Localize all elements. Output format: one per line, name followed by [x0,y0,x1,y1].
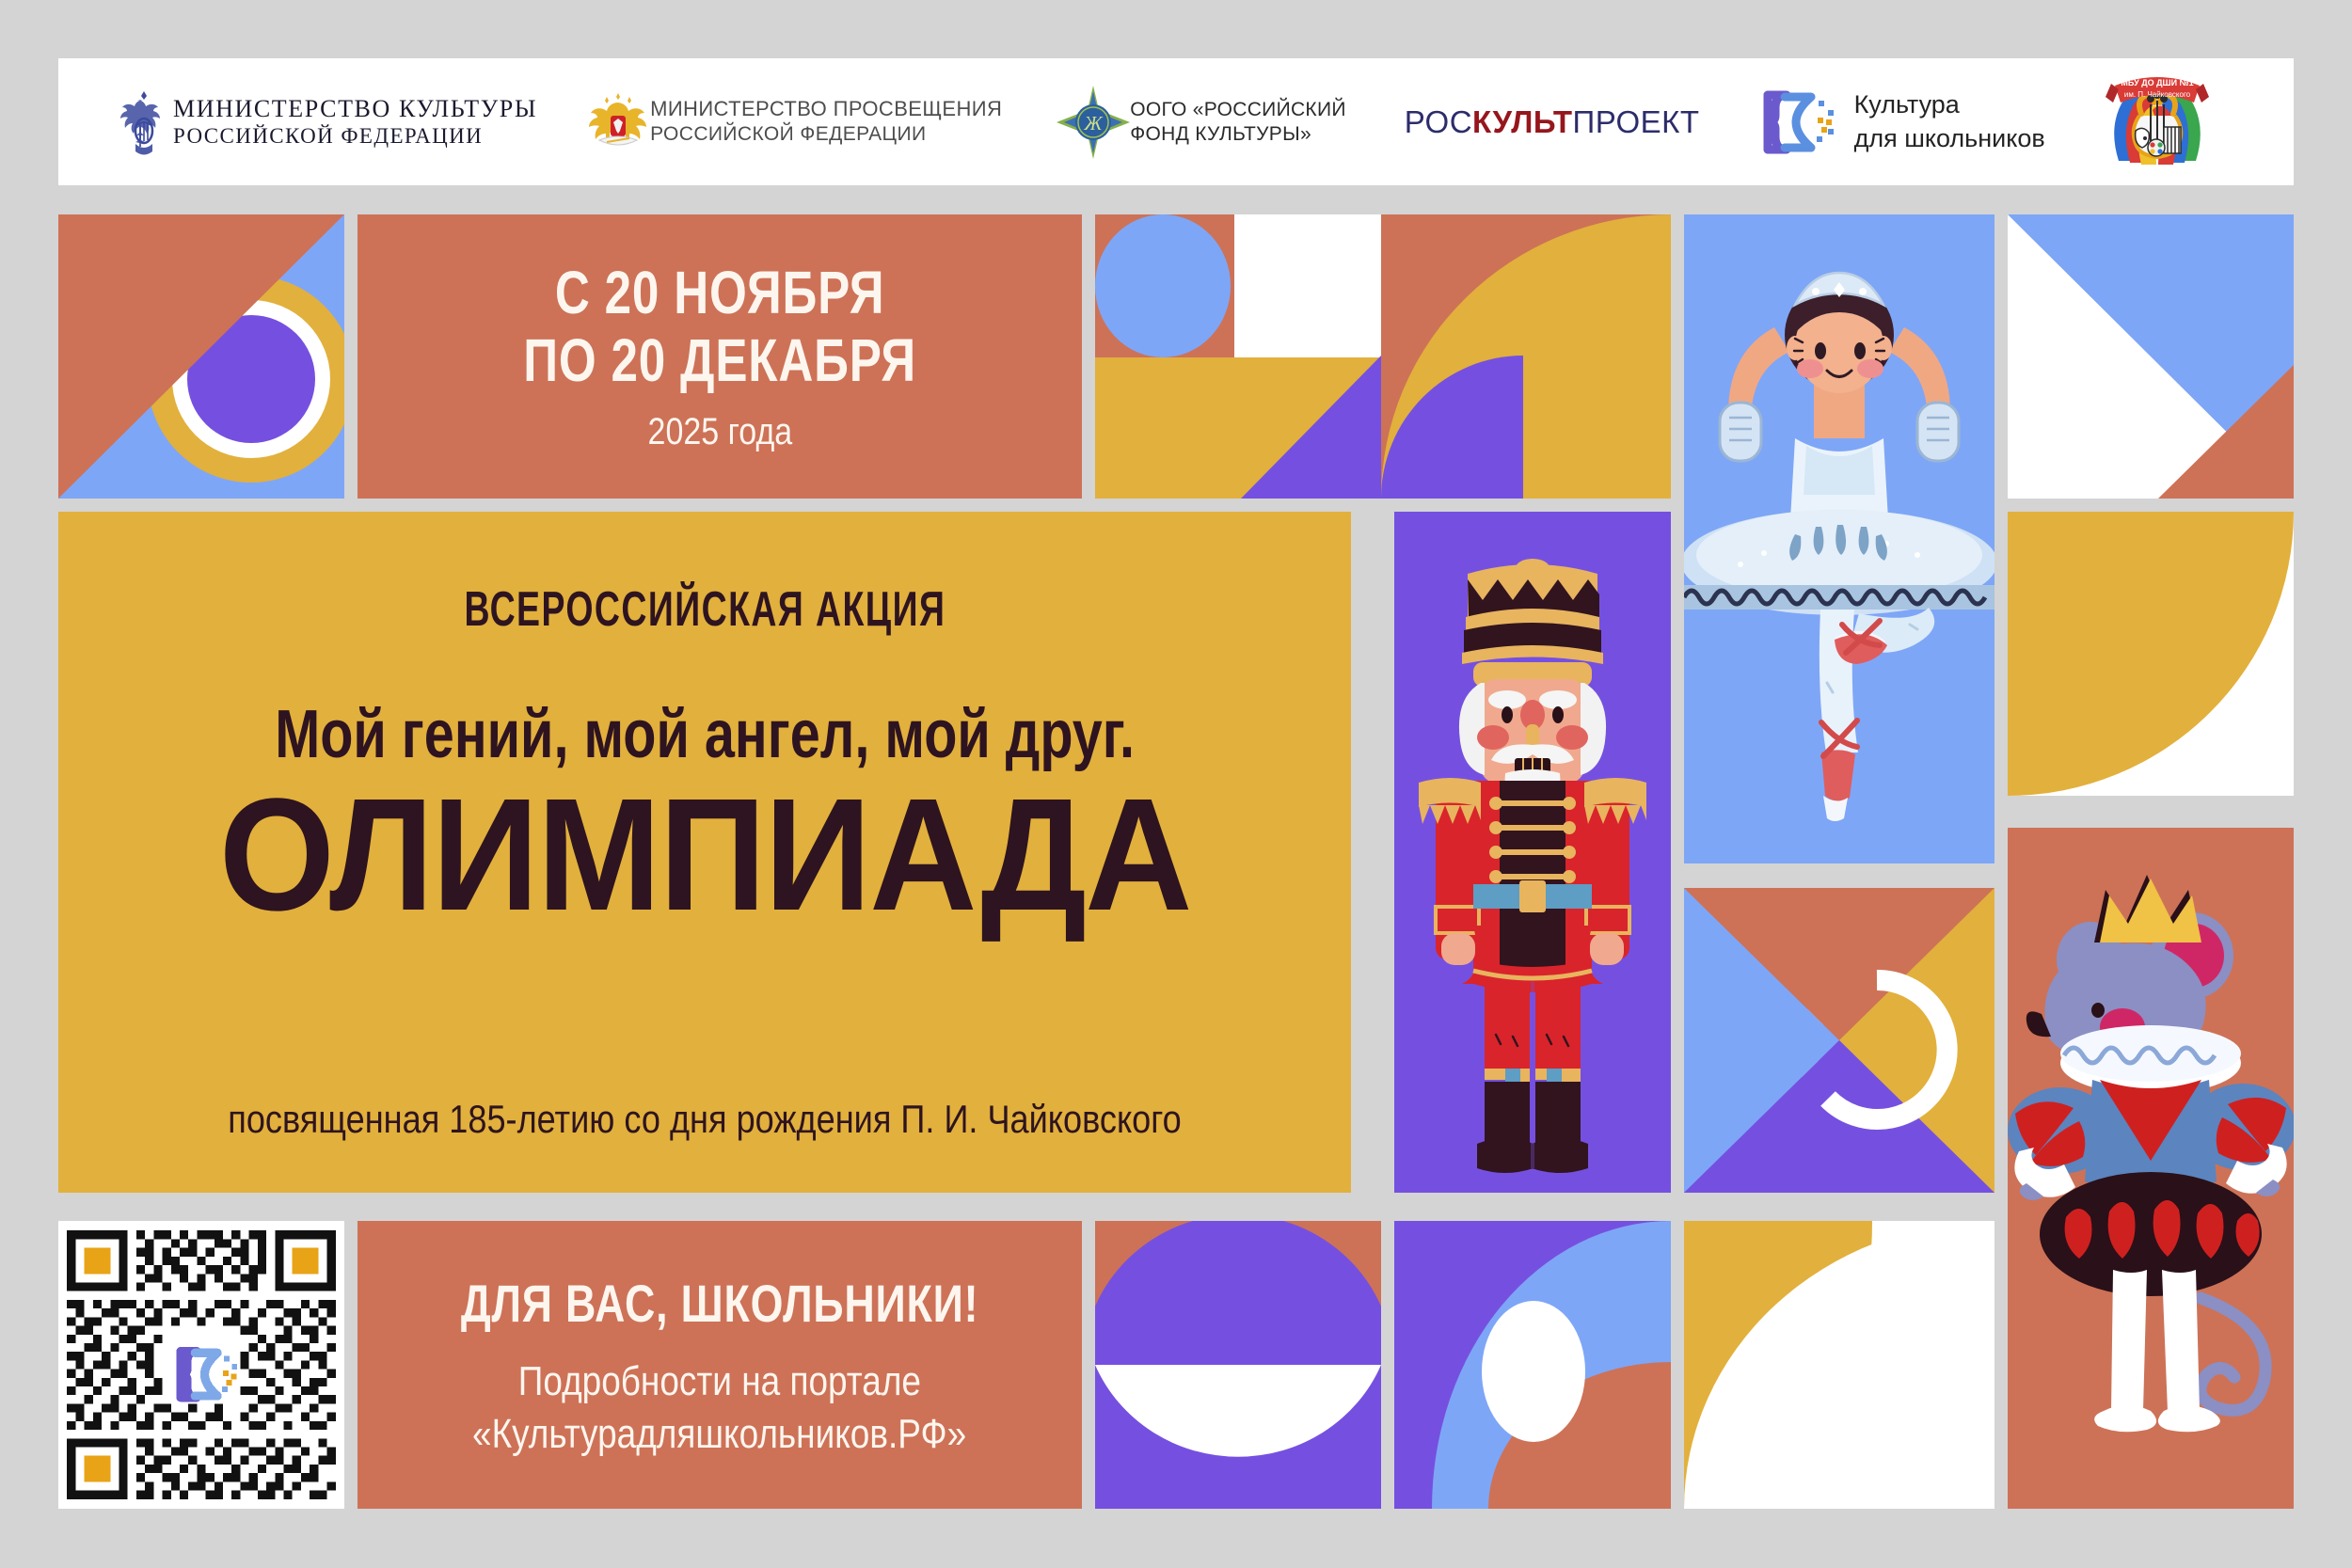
date-line-2: ПО 20 ДЕКАБРЯ [523,327,916,395]
cta-portal-url[interactable]: «Культурадляшкольников.РФ» [472,1411,966,1458]
logo-text-line1: ООГО «РОССИЙСКИЙ [1130,98,1346,122]
logo-text-line2: РОССИЙСКОЙ ФЕДЕРАЦИИ [173,123,537,150]
logo-ministry-of-education: МИНИСТЕРСТВО ПРОСВЕЩЕНИЯ РОССИЙСКОЙ ФЕДЕ… [586,58,1002,185]
svg-text:им. П. Чайковского: им. П. Чайковского [2124,90,2191,99]
campaign-footnote: посвященная 185-летию со дня рождения П.… [149,1097,1261,1142]
date-line-1: С 20 НОЯБРЯ [555,260,885,327]
qr-code-tile[interactable] [58,1221,344,1509]
decor-tile-kaleidoscope-mid [1684,888,1994,1193]
logo-ministry-of-culture-text: МИНИСТЕРСТВО КУЛЬТУРЫ РОССИЙСКОЙ ФЕДЕРАЦ… [173,94,537,150]
svg-text:Ж: Ж [1084,112,1104,135]
sponsor-logo-bar: МИНИСТЕРСТВО КУЛЬТУРЫ РОССИЙСКОЙ ФЕДЕРАЦ… [58,58,2294,185]
cta-line-1: Подробности на портале [518,1358,921,1405]
kds-book-bracket-icon [1758,87,1854,157]
mouse-king-illustration [2008,828,2294,1509]
logo-text-line1: Культура [1854,88,2045,121]
main-announcement-tile: ВСЕРОССИЙСКАЯ АКЦИЯ Мой гений, мой ангел… [58,512,1351,1193]
decor-tile-ellipse-bottom-center [1394,1221,1671,1509]
logo-roskultproekt: РОСКУЛЬТПРОЕКТ [1405,58,1700,185]
golden-eagle-emblem-icon [586,87,650,157]
roskultproekt-part2: КУЛЬТ [1472,104,1572,139]
logo-culture-for-schoolchildren-text: Культура для школьников [1854,88,2045,154]
decor-tile-arc-top-left [58,214,344,499]
qr-code-culture-for-schoolchildren[interactable] [58,1221,344,1509]
logo-dshi-tchaikovsky: МБУ ДО ДШИ №1 им. П. Чайковского [2102,58,2213,185]
double-headed-eagle-lyre-icon [115,87,173,157]
logo-ministry-of-culture: МИНИСТЕРСТВО КУЛЬТУРЫ РОССИЙСКОЙ ФЕДЕРАЦ… [115,58,537,185]
roskultproekt-part1: РОС [1405,104,1472,139]
logo-russian-culture-foundation: Ж ООГО «РОССИЙСКИЙ ФОНД КУЛЬТУРЫ» [1057,58,1346,185]
decor-tile-geometric-top-center [1095,214,1671,499]
ballerina-illustration [1684,214,1994,863]
campaign-kicker: ВСЕРОССИЙСКАЯ АКЦИЯ [464,581,946,638]
decor-tile-triangles-top-right [2008,214,2294,499]
logo-text-line2: для школьников [1854,122,2045,155]
decor-tile-arc-mid-right [2008,512,2294,796]
cta-heading: ДЛЯ ВАС, ШКОЛЬНИКИ! [461,1273,979,1334]
roskultproekt-part3: ПРОЕКТ [1572,104,1699,139]
nutcracker-illustration [1394,512,1671,1193]
music-school-lyre-emblem-icon: МБУ ДО ДШИ №1 им. П. Чайковского [2102,71,2213,174]
campaign-title: ОЛИМПИАДА [219,775,1191,935]
svg-text:МБУ ДО ДШИ №1: МБУ ДО ДШИ №1 [2121,78,2193,87]
campaign-subtitle: Мой гений, мой ангел, мой друг. [275,696,1135,773]
logo-text-line2: ФОНД КУЛЬТУРЫ» [1130,122,1346,147]
call-to-action-tile: ДЛЯ ВАС, ШКОЛЬНИКИ! Подробности на порта… [358,1221,1082,1509]
logo-russian-culture-foundation-text: ООГО «РОССИЙСКИЙ ФОНД КУЛЬТУРЫ» [1130,98,1346,146]
logo-ministry-of-education-text: МИНИСТЕРСТВО ПРОСВЕЩЕНИЯ РОССИЙСКОЙ ФЕДЕ… [650,97,1002,146]
logo-text-line2: РОССИЙСКОЙ ФЕДЕРАЦИИ [650,122,1002,147]
star-burst-medallion-icon: Ж [1057,86,1130,159]
decor-tile-ellipse-bottom-left [1095,1221,1381,1509]
date-year: 2025 года [647,411,792,453]
logo-culture-for-schoolchildren: Культура для школьников [1758,58,2045,185]
event-dates-tile: С 20 НОЯБРЯ ПО 20 ДЕКАБРЯ 2025 года [358,214,1082,499]
logo-roskultproekt-wordmark: РОСКУЛЬТПРОЕКТ [1405,104,1700,140]
poster-root: МИНИСТЕРСТВО КУЛЬТУРЫ РОССИЙСКОЙ ФЕДЕРАЦ… [0,0,2352,1568]
logo-text-line1: МИНИСТЕРСТВО ПРОСВЕЩЕНИЯ [650,97,1002,122]
decor-tile-leaf-bottom-right [1684,1221,1994,1509]
logo-text-line1: МИНИСТЕРСТВО КУЛЬТУРЫ [173,94,537,124]
